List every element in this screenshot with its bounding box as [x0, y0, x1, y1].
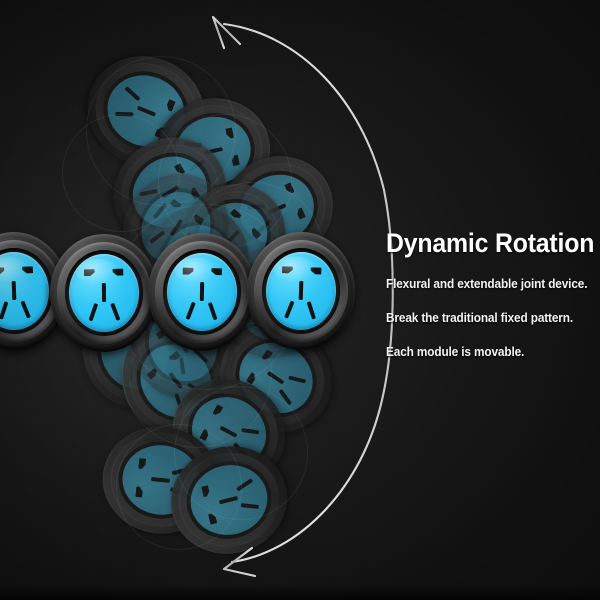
- banner-canvas: Dynamic Rotation Flexural and extendable…: [0, 0, 600, 600]
- feature-bullet-1: Flexural and extendable joint device.: [386, 278, 580, 291]
- feature-bullet-3: Each module is movable.: [386, 346, 580, 359]
- bottom-shadow-band: [0, 584, 600, 600]
- feature-bullet-2: Break the traditional fixed pattern.: [386, 312, 580, 325]
- page-title: Dynamic Rotation: [386, 228, 576, 258]
- feature-text-panel: Dynamic Rotation Flexural and extendable…: [386, 228, 592, 359]
